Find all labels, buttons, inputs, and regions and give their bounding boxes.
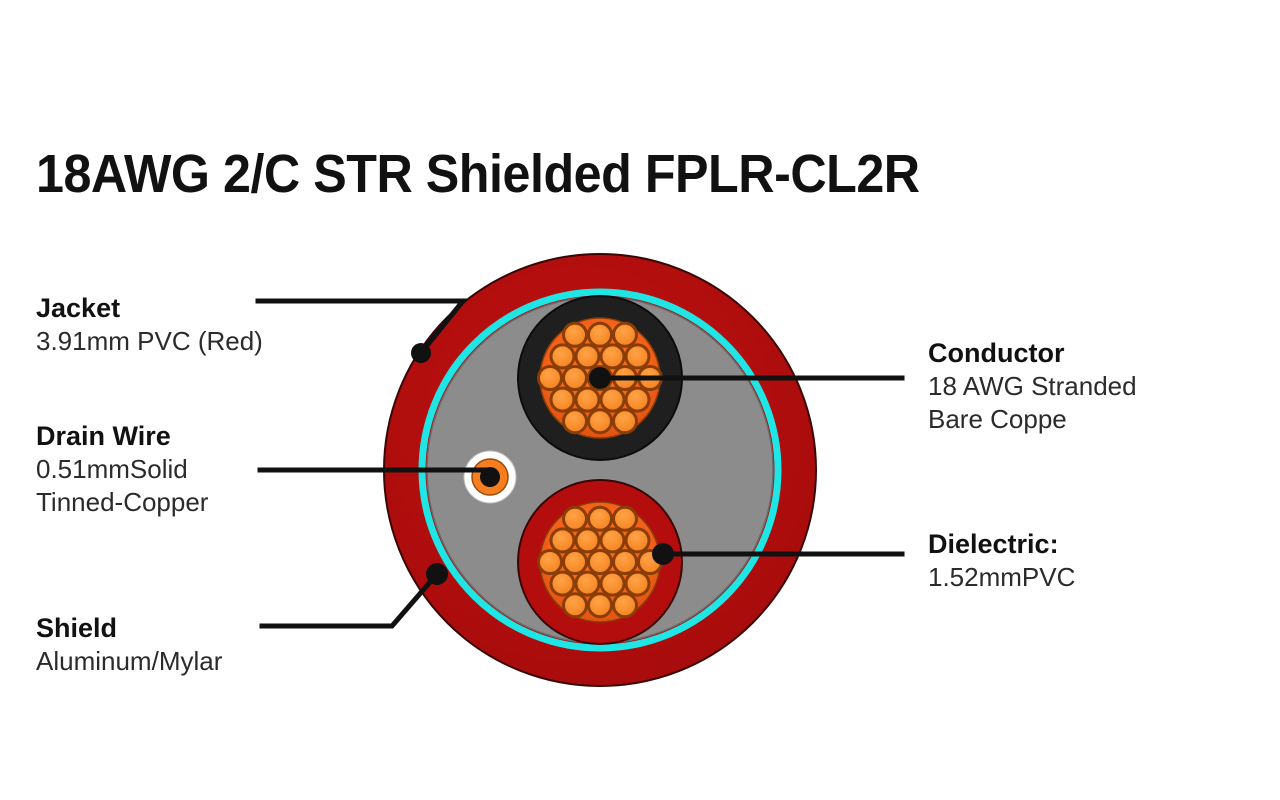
callout-drain-wire-line-1: 0.51mmSolid	[36, 453, 208, 486]
callout-jacket-heading: Jacket	[36, 292, 263, 325]
callout-shield-heading: Shield	[36, 612, 222, 645]
callout-conductor-line-2: Bare Coppe	[928, 403, 1137, 436]
callout-jacket: Jacket 3.91mm PVC (Red)	[36, 292, 263, 358]
callout-jacket-line-1: 3.91mm PVC (Red)	[36, 325, 263, 358]
callout-conductor-heading: Conductor	[928, 337, 1137, 370]
callout-conductor: Conductor 18 AWG Stranded Bare Coppe	[928, 337, 1137, 435]
callout-shield: Shield Aluminum/Mylar	[36, 612, 222, 678]
callout-dielectric: Dielectric: 1.52mmPVC	[928, 528, 1075, 594]
callout-dielectric-heading: Dielectric:	[928, 528, 1075, 561]
callout-drain-wire: Drain Wire 0.51mmSolid Tinned-Copper	[36, 420, 208, 518]
diagram-canvas: 18AWG 2/C STR Shielded FPLR-CL2R	[0, 0, 1280, 800]
dot-jacket	[411, 343, 431, 363]
dot-drain-wire	[480, 467, 500, 487]
callout-drain-wire-line-2: Tinned-Copper	[36, 486, 208, 519]
callout-drain-wire-heading: Drain Wire	[36, 420, 208, 453]
dot-shield	[426, 563, 448, 585]
dot-dielectric	[652, 543, 674, 565]
leader-shield	[262, 574, 437, 626]
callout-shield-line-1: Aluminum/Mylar	[36, 645, 222, 678]
callout-conductor-line-1: 18 AWG Stranded	[928, 370, 1137, 403]
dot-conductor	[589, 367, 611, 389]
callout-dielectric-line-1: 1.52mmPVC	[928, 561, 1075, 594]
